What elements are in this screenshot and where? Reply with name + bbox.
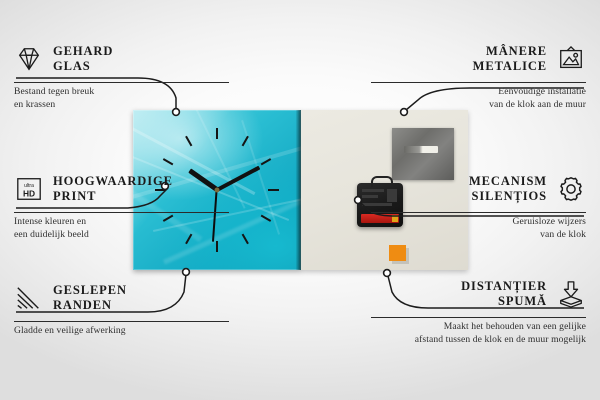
clock-tick <box>216 241 218 252</box>
feature-title: MÂNERE METALICE <box>473 44 547 74</box>
hanger-slot <box>404 146 438 153</box>
feature-polished-edges: GESLEPEN RANDEN Gladde en veilige afwerk… <box>14 277 229 338</box>
feature-metal-handles: MÂNERE METALICE Eenvoudige installatie v… <box>371 38 586 112</box>
feature-subtitle: Maakt het behouden van een gelijke afsta… <box>311 321 586 347</box>
clock-tick <box>163 158 174 165</box>
divider <box>14 82 229 83</box>
feature-title: DISTANȚIER SPUMĂ <box>461 279 547 309</box>
infographic-canvas: GEHARD GLAS Bestand tegen breuk en krass… <box>0 0 600 400</box>
clock-tick <box>242 234 249 245</box>
ultra-hd-icon: ultra HD <box>14 175 44 203</box>
feature-subtitle: Gladde en veilige afwerking <box>14 325 229 338</box>
feature-foam-spacer: DISTANȚIER SPUMĂ Maakt het behouden van … <box>371 273 586 347</box>
feature-subtitle: Bestand tegen breuk en krassen <box>14 86 229 112</box>
feature-title: HOOGWAARDIGE PRINT <box>53 174 173 204</box>
feature-subtitle: Intense kleuren en een duidelijk beeld <box>14 216 229 242</box>
feature-subtitle: Geruisloze wijzers van de klok <box>371 216 586 242</box>
divider <box>14 212 229 213</box>
feature-title: GESLEPEN RANDEN <box>53 283 127 313</box>
divider <box>371 212 586 213</box>
svg-text:HD: HD <box>23 188 35 198</box>
gear-icon <box>556 175 586 203</box>
divider <box>371 82 586 83</box>
picture-hanger-icon <box>556 45 586 73</box>
polished-edges-icon <box>14 284 44 312</box>
feature-title: MECANISM SILENȚIOS <box>469 174 547 204</box>
clock-tick <box>216 128 218 139</box>
clock-tick <box>185 136 192 147</box>
press-down-icon <box>556 280 586 308</box>
feature-hq-print: ultra HD HOOGWAARDIGE PRINT Intense kleu… <box>14 168 229 242</box>
foam-spacer <box>389 245 406 261</box>
feature-title: GEHARD GLAS <box>53 44 113 74</box>
feature-tempered-glass: GEHARD GLAS Bestand tegen breuk en krass… <box>14 38 229 112</box>
feature-silent-mechanism: MECANISM SILENȚIOS Geruisloze wijzers va… <box>371 168 586 242</box>
divider <box>14 321 229 322</box>
feature-subtitle: Eenvoudige installatie van de klok aan d… <box>371 86 586 112</box>
clock-tick <box>268 189 279 191</box>
divider <box>371 317 586 318</box>
diamond-icon <box>14 45 44 73</box>
